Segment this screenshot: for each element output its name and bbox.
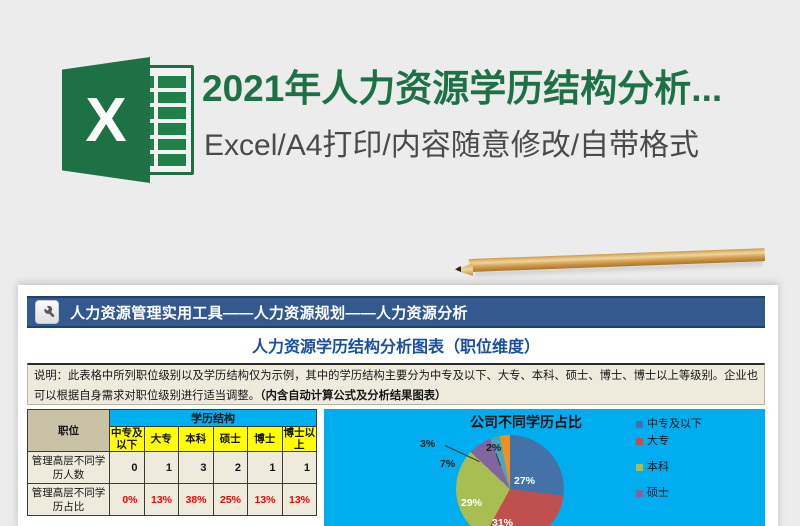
tool-banner-text: 人力资源管理实用工具——人力资源规划——人力资源分析 <box>70 302 468 323</box>
promo-banner: X 2021年人力资源学历结构分析... Excel/A4打印/内容随意修改/自… <box>0 0 800 230</box>
cell-count-4: 1 <box>248 452 283 484</box>
pie-label-2: 29% <box>461 497 482 509</box>
row-label-count: 管理高层不同学历人数 <box>28 452 110 484</box>
cell-percent-1: 13% <box>144 484 179 516</box>
cell-percent-4: 13% <box>248 484 283 516</box>
note-bold-text: （内含自动计算公式及分析结果图表） <box>260 390 446 402</box>
pencil-decoration <box>455 259 765 278</box>
legend-swatch-shuoshi <box>636 490 643 497</box>
document-preview: 人力资源管理实用工具——人力资源规划——人力资源分析 人力资源学历结构分析图表（… <box>22 291 774 526</box>
legend-label-shuoshi: 硕士 <box>647 486 747 500</box>
table-corner-header: 职位 <box>28 410 110 452</box>
cell-percent-2: 38% <box>179 484 214 516</box>
pie-label-4: 3% <box>420 438 435 450</box>
legend-item: 大专 <box>636 434 760 448</box>
education-pie-chart: 公司不同学历占比 27% 31% 29% 7% 3% 2% 中专及以下 大专 <box>324 409 765 526</box>
cell-count-1: 1 <box>144 452 179 484</box>
pie-label-0: 27% <box>514 475 535 487</box>
pie-label-5: 2% <box>486 442 501 454</box>
table-group-header: 学历结构 <box>110 410 317 427</box>
wrench-icon <box>35 300 59 324</box>
legend-label-zhongzhuan: 中专及以下 <box>647 417 747 431</box>
row-label-percent: 管理高层不同学历占比 <box>28 484 110 516</box>
pie-graphic <box>456 435 564 526</box>
col-header-boshiyishang: 博士以上 <box>282 427 317 452</box>
pie-label-3: 7% <box>440 458 455 470</box>
cell-count-3: 2 <box>213 452 248 484</box>
note-box: 说明：此表格中所列职位级别以及学历结构仅为示例，其中的学历结构主要分为中专及以下… <box>27 363 765 405</box>
pie-label-1: 31% <box>492 517 513 526</box>
legend-swatch-dazhuan <box>636 438 643 445</box>
col-header-dazhuan: 大专 <box>144 427 179 452</box>
section-title: 人力资源学历结构分析图表（职位维度） <box>27 335 765 361</box>
col-header-boshi: 博士 <box>248 427 283 452</box>
legend-label-benke: 本科 <box>647 460 747 474</box>
cell-count-2: 3 <box>179 452 214 484</box>
chart-legend: 中专及以下 大专 本科 硕士 <box>636 417 760 503</box>
col-header-shuoshi: 硕士 <box>213 427 248 452</box>
legend-swatch-benke <box>636 464 643 471</box>
legend-item: 硕士 <box>636 486 760 500</box>
legend-item: 中专及以下 <box>636 417 760 431</box>
excel-logo-letter: X <box>62 57 150 183</box>
tool-banner: 人力资源管理实用工具——人力资源规划——人力资源分析 <box>27 296 765 328</box>
table-row: 管理高层不同学历占比 0% 13% 38% 25% 13% 13% <box>28 484 317 516</box>
table-header-row-group: 职位 学历结构 <box>28 410 317 427</box>
promo-title: 2021年人力资源学历结构分析... <box>202 62 782 116</box>
legend-swatch-zhongzhuan <box>636 421 643 428</box>
cell-percent-5: 13% <box>282 484 317 516</box>
promo-subtitle: Excel/A4打印/内容随意修改/自带格式 <box>204 124 794 168</box>
legend-item: 本科 <box>636 460 760 474</box>
col-header-benke: 本科 <box>179 427 214 452</box>
excel-logo-icon: X <box>62 57 194 183</box>
chart-title: 公司不同学历占比 <box>416 412 636 432</box>
cell-percent-3: 25% <box>213 484 248 516</box>
cell-percent-0: 0% <box>110 484 145 516</box>
cell-count-5: 1 <box>282 452 317 484</box>
cell-count-0: 0 <box>110 452 145 484</box>
education-structure-table: 职位 学历结构 中专及以下 大专 本科 硕士 博士 博士以上 管理高层不同学历人… <box>27 409 317 516</box>
legend-label-dazhuan: 大专 <box>647 434 747 448</box>
table-row: 管理高层不同学历人数 0 1 3 2 1 1 <box>28 452 317 484</box>
col-header-zhongzhuan: 中专及以下 <box>110 427 145 452</box>
screenshot-root: X 2021年人力资源学历结构分析... Excel/A4打印/内容随意修改/自… <box>0 0 800 526</box>
